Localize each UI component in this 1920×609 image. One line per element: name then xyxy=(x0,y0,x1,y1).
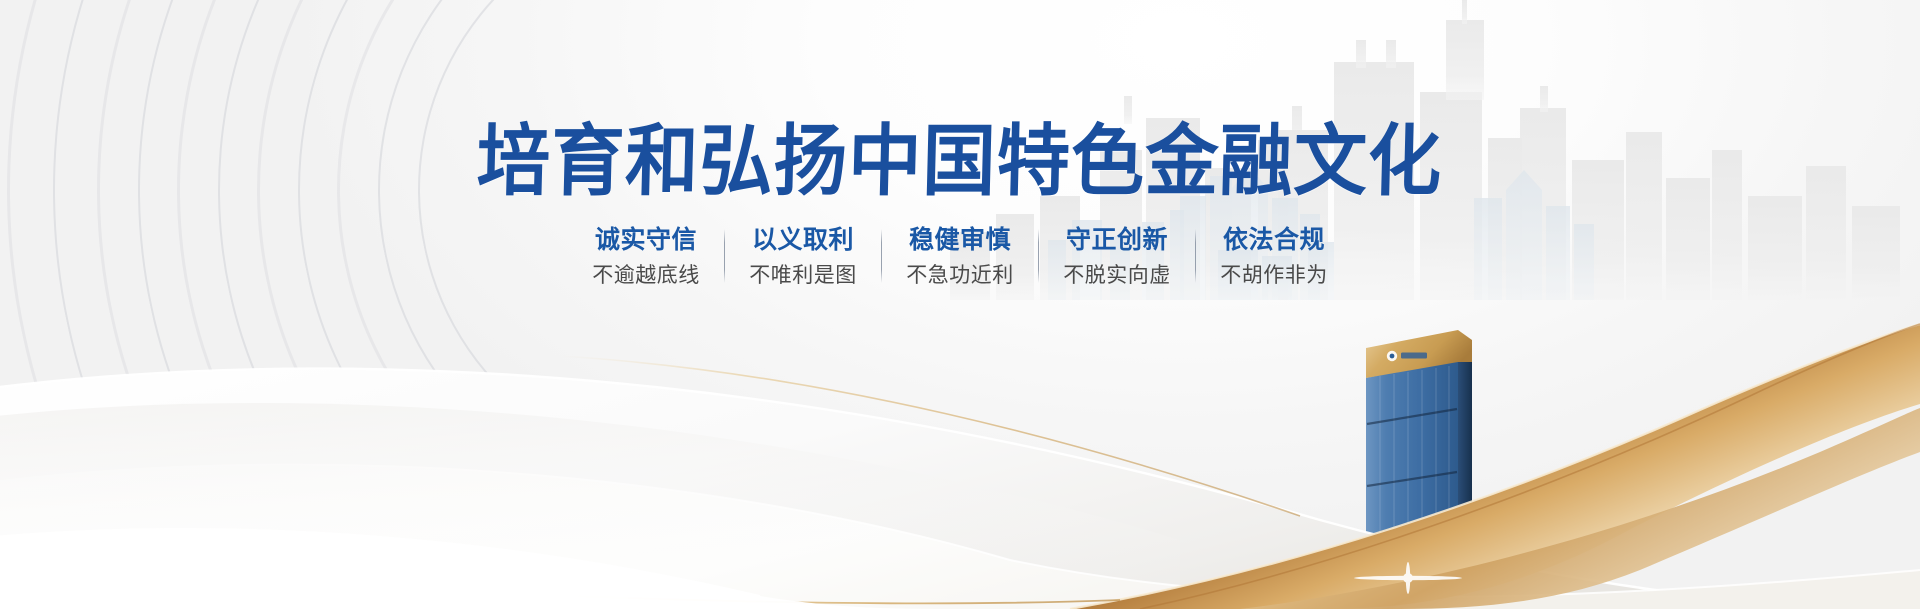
value-item-2: 以义取利 不唯利是图 xyxy=(725,226,881,288)
value-subtitle: 不唯利是图 xyxy=(749,264,857,288)
value-subtitle: 不胡作非为 xyxy=(1220,264,1328,288)
value-title: 依法合规 xyxy=(1223,226,1325,255)
value-title: 以义取利 xyxy=(752,226,854,255)
value-item-3: 稳健审慎 不急功近利 xyxy=(882,226,1038,288)
value-subtitle: 不脱实向虚 xyxy=(1063,264,1171,288)
banner-content: 培育和弘扬中国特色金融文化 诚实守信 不逾越底线 以义取利 不唯利是图 稳健审慎… xyxy=(0,0,1920,609)
value-item-5: 依法合规 不胡作非为 xyxy=(1196,226,1352,288)
value-title: 稳健审慎 xyxy=(909,226,1011,255)
page-title: 培育和弘扬中国特色金融文化 xyxy=(476,122,1443,200)
value-subtitle: 不急功近利 xyxy=(906,264,1014,288)
core-values-list: 诚实守信 不逾越底线 以义取利 不唯利是图 稳健审慎 不急功近利 守正创新 不脱… xyxy=(568,226,1352,288)
value-title: 守正创新 xyxy=(1066,226,1168,255)
value-item-1: 诚实守信 不逾越底线 xyxy=(568,226,724,288)
value-subtitle: 不逾越底线 xyxy=(592,264,700,288)
banner-root: 培育和弘扬中国特色金融文化 诚实守信 不逾越底线 以义取利 不唯利是图 稳健审慎… xyxy=(0,0,1920,609)
value-title: 诚实守信 xyxy=(595,226,697,255)
value-item-4: 守正创新 不脱实向虚 xyxy=(1039,226,1195,288)
